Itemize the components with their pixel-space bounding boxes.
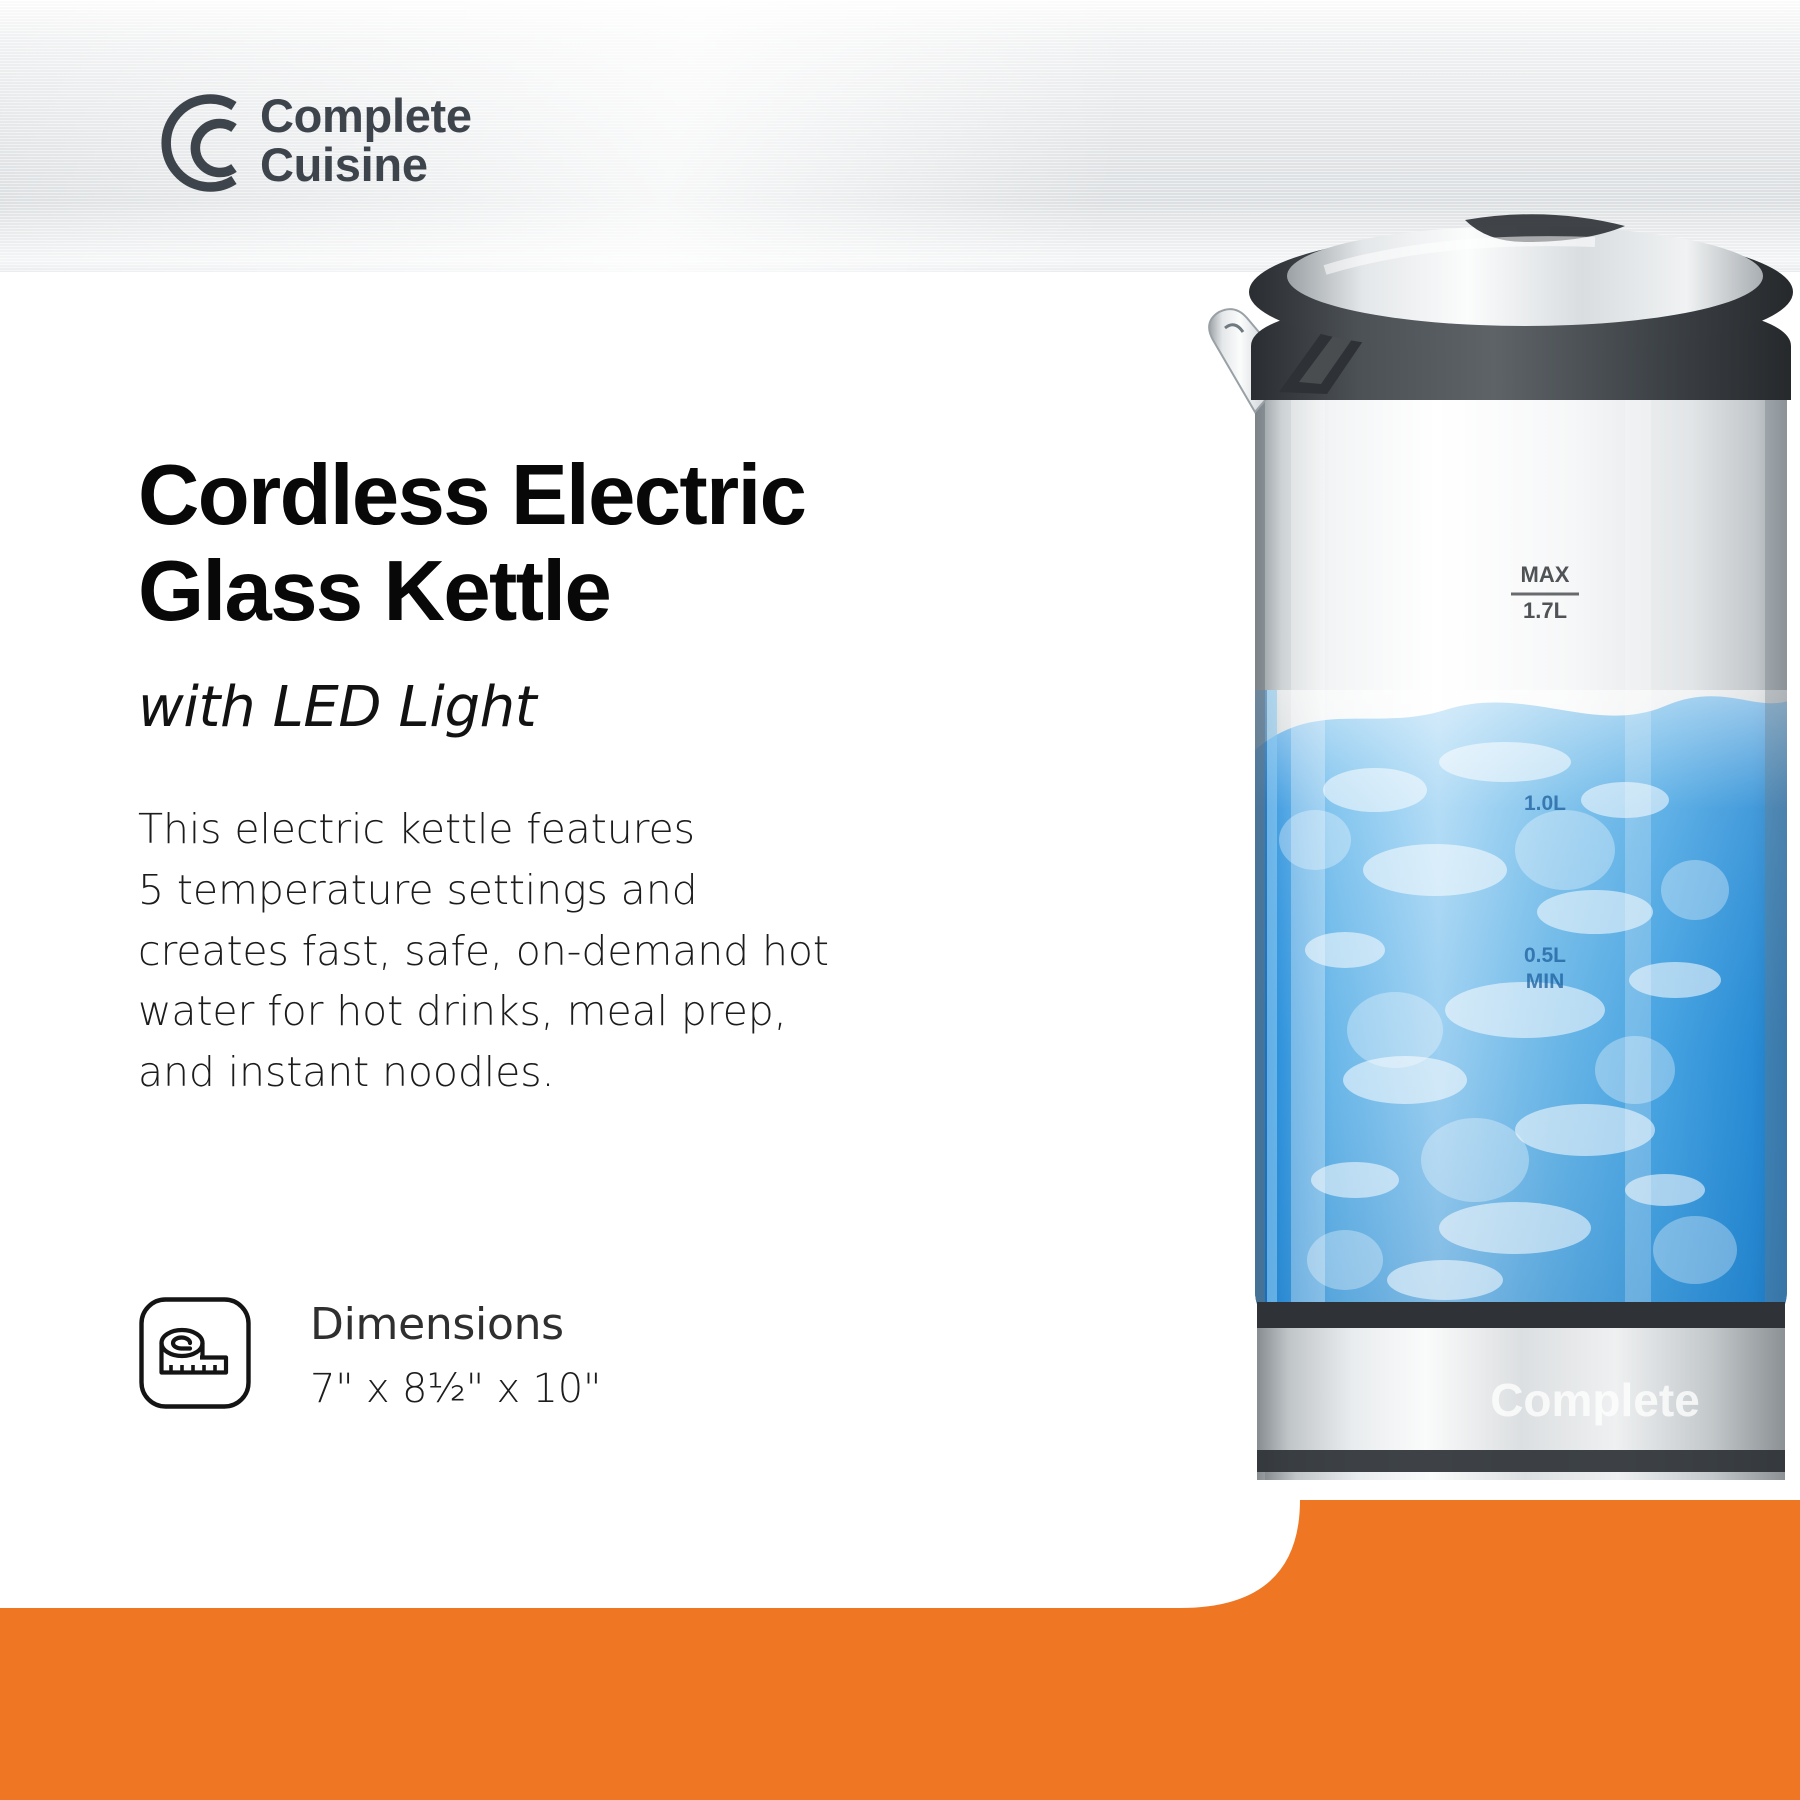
mark-min-label: MIN [1526,970,1565,993]
headline-line-2: Glass Kettle [138,544,610,639]
mark-mid-volume: 1.0L [1524,792,1566,815]
brand-name-line1: Complete [260,91,472,140]
product-description: This electric kettle features 5 temperat… [138,799,838,1102]
concentric-c-arcs-logo-icon [134,84,238,196]
mark-max-volume: 1.7L [1523,598,1567,623]
headline-line-1: Cordless Electric [138,448,805,543]
dimensions-spec-block: Dimensions 7" x 8½" x 10" [138,1296,601,1411]
brand-wordmark: Complete Cuisine [260,91,472,190]
orange-footer-bar [0,1500,1800,1800]
base-wordmark: Complete [1490,1374,1700,1426]
dimensions-value: 7" x 8½" x 10" [310,1367,601,1411]
copy-column: Cordless Electric Glass Kettle with LED … [138,448,838,1103]
description-line-1: This electric kettle features [138,799,838,860]
glass-kettle-product-photo: MAX 1.7L 1.0L 0.5L MIN [1195,150,1800,1480]
kettle-lid [1249,214,1793,400]
subheadline: with LED Light [138,674,838,741]
page-title: Cordless Electric Glass Kettle [138,448,838,640]
description-line-4: water for hot drinks, meal prep, [138,981,838,1042]
description-line-2: 5 temperature settings and [138,860,838,921]
dimensions-label: Dimensions [310,1300,601,1349]
kettle-glass-body: MAX 1.7L 1.0L 0.5L MIN [1255,400,1795,1350]
description-line-3: creates fast, safe, on-demand hot [138,921,838,982]
description-line-5: and instant noodles. [138,1042,838,1103]
measuring-tape-icon [138,1296,252,1410]
brand-logo: Complete Cuisine [134,84,472,196]
mark-max-label: MAX [1521,562,1570,587]
mark-min-volume: 0.5L [1524,944,1566,967]
dimensions-text: Dimensions 7" x 8½" x 10" [310,1296,601,1411]
brand-name-line2: Cuisine [260,140,472,189]
illuminated-water [1255,690,1795,1350]
kettle-base: Complete [1257,1302,1785,1480]
poster-canvas: Complete Cuisine Cordless Electric Glass… [0,0,1800,1800]
